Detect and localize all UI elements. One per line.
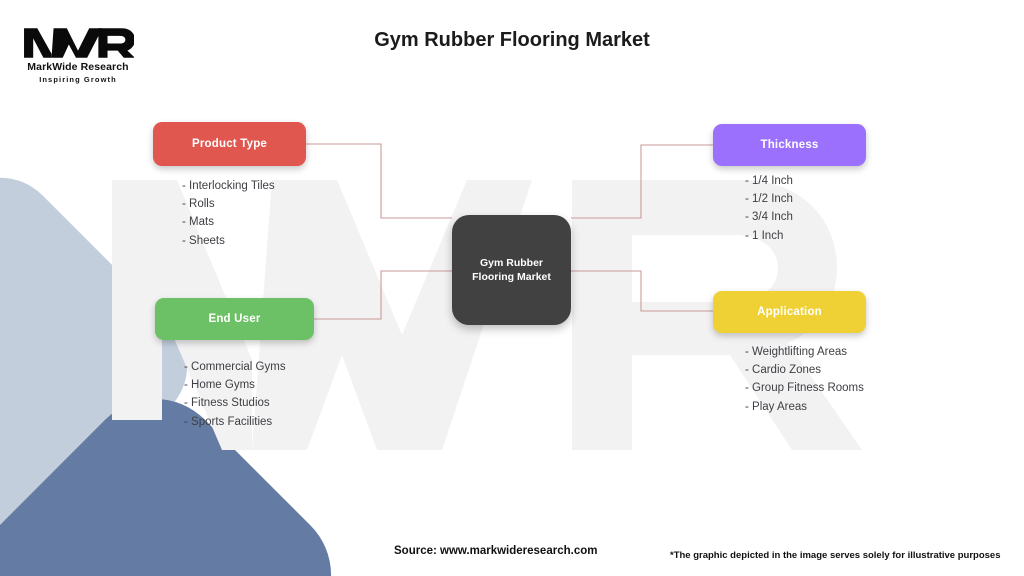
list-item: - Sheets [182, 232, 275, 250]
list-item: - 1 Inch [745, 227, 793, 245]
branch-label-application: Application [757, 306, 822, 318]
list-item: - Interlocking Tiles [182, 177, 275, 195]
connector-thickness [571, 145, 713, 218]
list-item: - 3/4 Inch [745, 208, 793, 226]
branch-header-application[interactable]: Application [713, 291, 866, 333]
branch-label-thickness: Thickness [760, 139, 818, 151]
list-item: - Group Fitness Rooms [745, 379, 864, 397]
list-item: - Fitness Studios [184, 394, 286, 412]
branch-items-end-user: - Commercial Gyms - Home Gyms - Fitness … [184, 358, 286, 431]
list-item: - Play Areas [745, 398, 864, 416]
list-item: - 1/4 Inch [745, 172, 793, 190]
connector-end-user [314, 271, 452, 319]
branch-items-thickness: - 1/4 Inch - 1/2 Inch - 3/4 Inch - 1 Inc… [745, 172, 793, 245]
branch-header-product-type[interactable]: Product Type [153, 122, 306, 166]
list-item: - Mats [182, 213, 275, 231]
branch-header-end-user[interactable]: End User [155, 298, 314, 340]
list-item: - Rolls [182, 195, 275, 213]
branch-items-product-type: - Interlocking Tiles - Rolls - Mats - Sh… [182, 177, 275, 250]
connector-product-type [306, 144, 452, 218]
connector-application [571, 271, 713, 311]
branch-label-end-user: End User [208, 313, 260, 325]
list-item: - Commercial Gyms [184, 358, 286, 376]
disclaimer-text: *The graphic depicted in the image serve… [670, 550, 1001, 561]
branch-items-application: - Weightlifting Areas - Cardio Zones - G… [745, 343, 864, 416]
list-item: - Weightlifting Areas [745, 343, 864, 361]
source-text: Source: www.markwideresearch.com [394, 545, 597, 557]
list-item: - Sports Facilities [184, 413, 286, 431]
center-node: Gym Rubber Flooring Market [452, 215, 571, 325]
list-item: - Cardio Zones [745, 361, 864, 379]
branch-label-product-type: Product Type [192, 138, 267, 150]
infographic-canvas: MarkWide Research Inspiring Growth Gym R… [0, 0, 1024, 576]
list-item: - Home Gyms [184, 376, 286, 394]
list-item: - 1/2 Inch [745, 190, 793, 208]
branch-header-thickness[interactable]: Thickness [713, 124, 866, 166]
